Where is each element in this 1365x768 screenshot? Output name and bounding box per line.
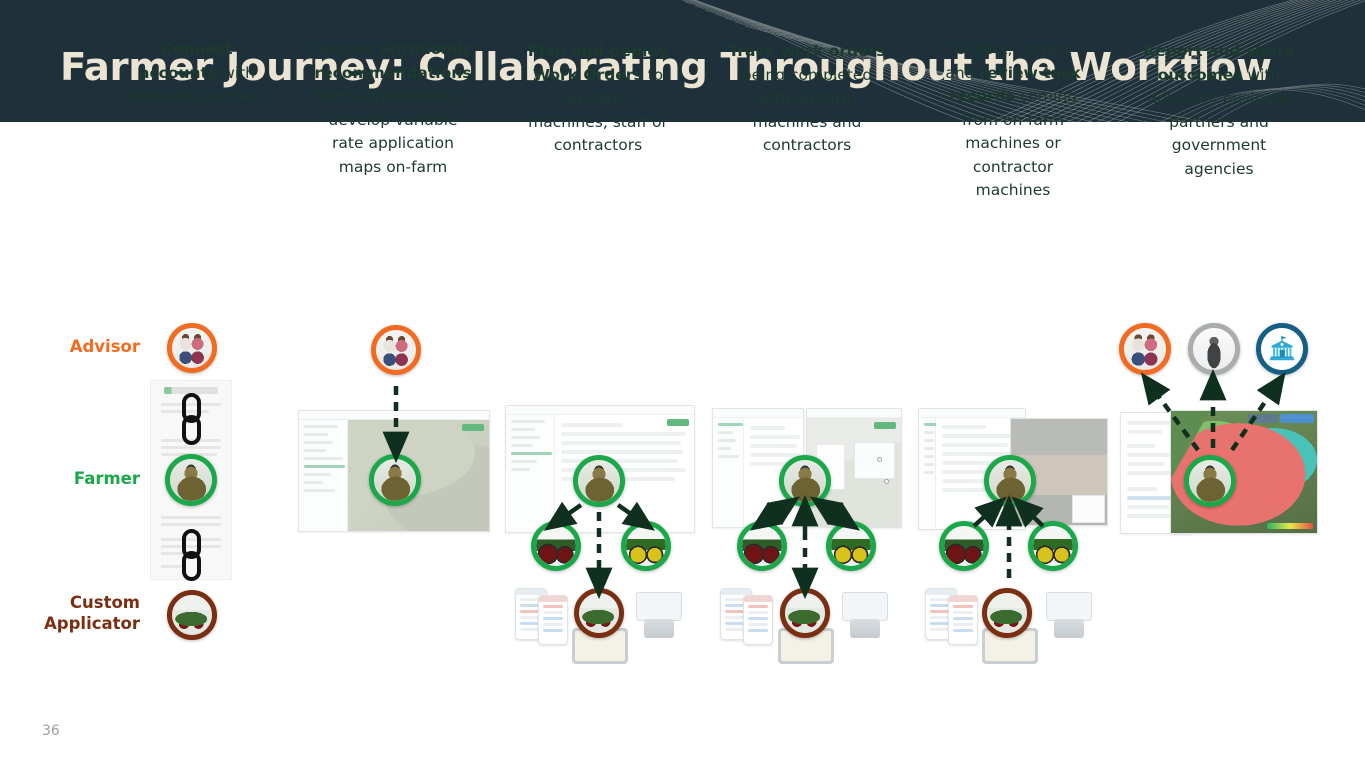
- red-tractor-avatar-col5: [939, 521, 989, 571]
- column-heading-track-work-orders: Track work ordersbeing completedwith on-…: [718, 40, 896, 158]
- green-tractor-avatar-col4: [826, 521, 876, 571]
- column-heading-receive-recommendations: Receive agronomicrecommendationsfrom agr…: [302, 38, 484, 179]
- column-heading-report-share-outcomes: Report and shareoutcomes withadvisors, b…: [1130, 40, 1308, 181]
- red-tractor-avatar-col4: [737, 521, 787, 571]
- farmer-avatar-col3: [573, 455, 625, 507]
- terminal-monitor-col4: [842, 592, 888, 638]
- green-tractor-avatar-col3: [621, 521, 671, 571]
- farmer-avatar-col6: [1184, 455, 1236, 507]
- custom-applicator-avatar-col3: [574, 588, 624, 638]
- chain-link-icon-top: [176, 392, 206, 446]
- row-label-farmer: Farmer: [30, 469, 140, 490]
- government-building-icon: [1261, 328, 1303, 370]
- terminal-monitor-col3: [636, 592, 682, 638]
- terminal-monitor-col5: [1046, 592, 1092, 638]
- custom-applicator-avatar-col1: [167, 590, 217, 640]
- column-heading-collect-review-records: Collect, correctand review taskrecords c…: [928, 38, 1098, 203]
- mobile-app-mock2-col5: [948, 595, 978, 645]
- farmer-avatar-col5: [984, 455, 1036, 507]
- column-heading-connect-accounts: Connectaccounts withbusiness partners: [112, 38, 282, 109]
- farmer-avatar-col4: [779, 455, 831, 507]
- page-number: 36: [42, 723, 60, 739]
- farmer-avatar-col2: [369, 454, 421, 506]
- chain-link-icon-bottom: [176, 528, 206, 582]
- mobile-app-mock2-col3: [538, 595, 568, 645]
- business-partner-avatar-col6: [1188, 323, 1240, 375]
- advisor-avatar-col1: [167, 323, 217, 373]
- mobile-app-mock2-col4: [743, 595, 773, 645]
- slide: Farmer Journey: Collaborating Throughout…: [0, 0, 1365, 768]
- green-tractor-avatar-col5: [1028, 521, 1078, 571]
- farmer-avatar-col1: [165, 454, 217, 506]
- row-label-custom-applicator: CustomApplicator: [20, 593, 140, 634]
- row-label-advisor: Advisor: [30, 337, 140, 358]
- column-heading-plan-deploy-work-orders: Plan and deployWork Orders toon-farmmach…: [508, 40, 688, 158]
- custom-applicator-avatar-col4: [780, 588, 830, 638]
- advisor-avatar-col2: [371, 325, 421, 375]
- red-tractor-avatar-col3: [531, 521, 581, 571]
- custom-applicator-avatar-col5: [982, 588, 1032, 638]
- advisor-avatar-col6: [1119, 323, 1171, 375]
- government-agency-avatar-col6: [1256, 323, 1308, 375]
